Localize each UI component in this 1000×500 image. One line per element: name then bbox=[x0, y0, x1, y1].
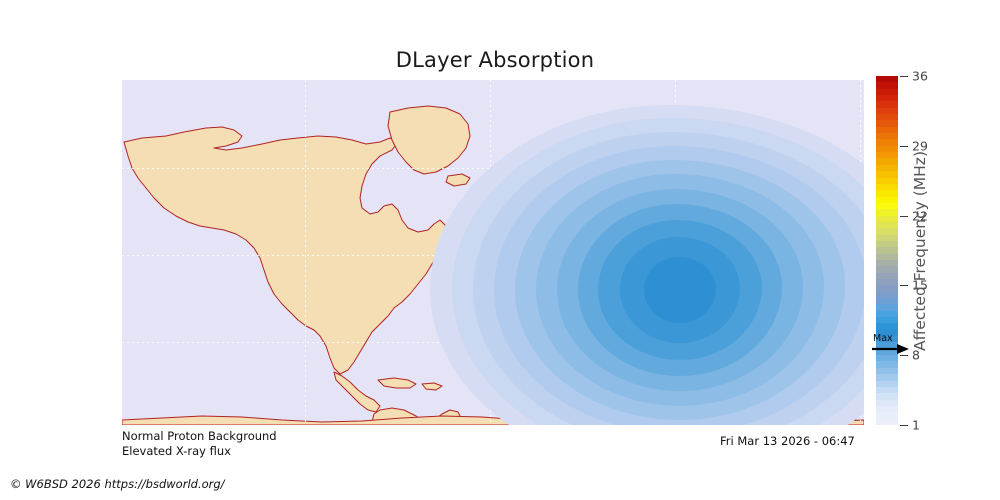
colorbar-tick bbox=[900, 216, 908, 217]
colorbar-tick bbox=[900, 146, 908, 147]
copyright-notice: © W6BSD 2026 https://bsdworld.org/ bbox=[10, 477, 225, 491]
page-title: DLayer Absorption bbox=[0, 48, 990, 72]
colorbar-axis-label: Affected Frequency (MHz) bbox=[908, 76, 932, 425]
max-annotation-label: Max bbox=[873, 333, 893, 344]
note-xray-flux: Elevated X-ray flux bbox=[122, 444, 231, 458]
colorbar-gradient bbox=[876, 76, 898, 425]
colorbar-tick bbox=[900, 76, 908, 77]
colorbar[interactable]: 3629221581 bbox=[876, 76, 898, 425]
note-proton-background: Normal Proton Background bbox=[122, 429, 277, 443]
colorbar-tick bbox=[900, 285, 908, 286]
timestamp: Fri Mar 13 2026 - 06:47 bbox=[720, 434, 855, 448]
max-annotation: Max bbox=[871, 333, 923, 361]
colorbar-tick bbox=[900, 425, 908, 426]
right-arrow-icon bbox=[871, 344, 911, 358]
world-map-plot[interactable] bbox=[122, 80, 864, 425]
coastline-layer bbox=[122, 80, 864, 425]
colorbar-segment bbox=[876, 419, 898, 425]
colorbar-axis-label-text: Affected Frequency (MHz) bbox=[911, 151, 929, 351]
